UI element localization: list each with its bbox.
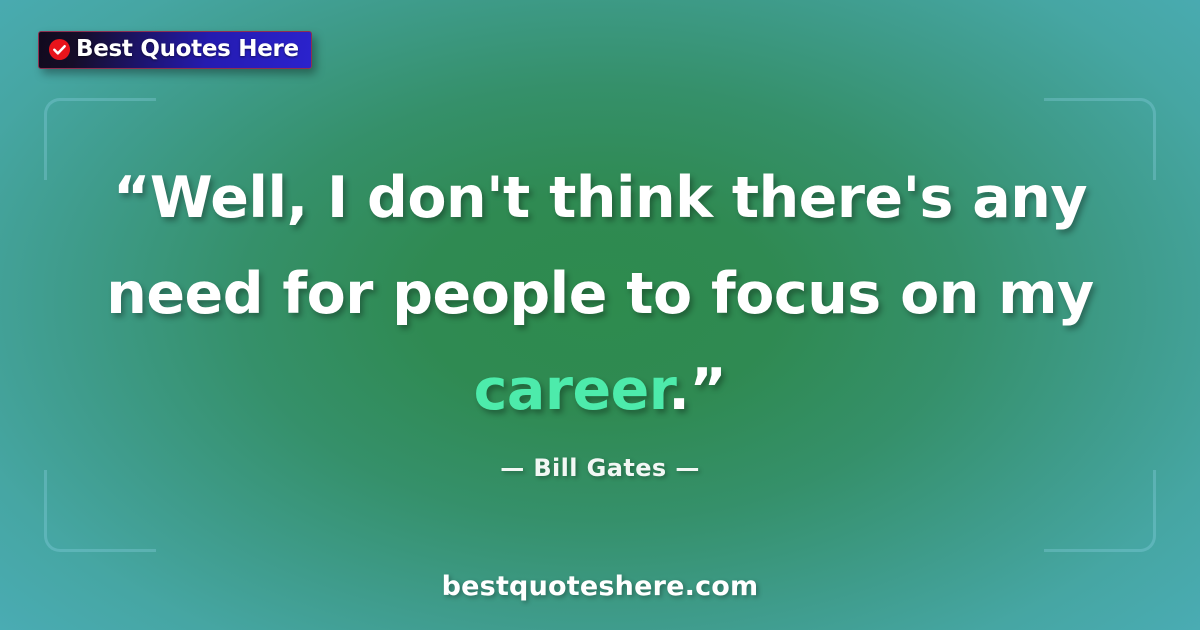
quote-line-1: “Well, I don't think there's any <box>80 150 1120 246</box>
quote-card: Best Quotes Here “Well, I don't think th… <box>0 0 1200 630</box>
brand-badge-label: Best Quotes Here <box>76 38 299 61</box>
quote-line-3-tail: .” <box>668 357 726 423</box>
verified-check-icon <box>48 38 71 61</box>
quote-line-3: career.” <box>80 342 1120 438</box>
quote-text-block: “Well, I don't think there's any need fo… <box>0 150 1200 438</box>
corner-bracket-bottom-left-icon <box>44 470 156 552</box>
quote-highlight-word: career <box>474 357 669 423</box>
quote-attribution: — Bill Gates — <box>0 454 1200 482</box>
brand-badge[interactable]: Best Quotes Here <box>38 31 312 69</box>
quote-line-2: need for people to focus on my <box>80 246 1120 342</box>
corner-bracket-bottom-right-icon <box>1044 470 1156 552</box>
site-url-label: bestquoteshere.com <box>0 571 1200 602</box>
